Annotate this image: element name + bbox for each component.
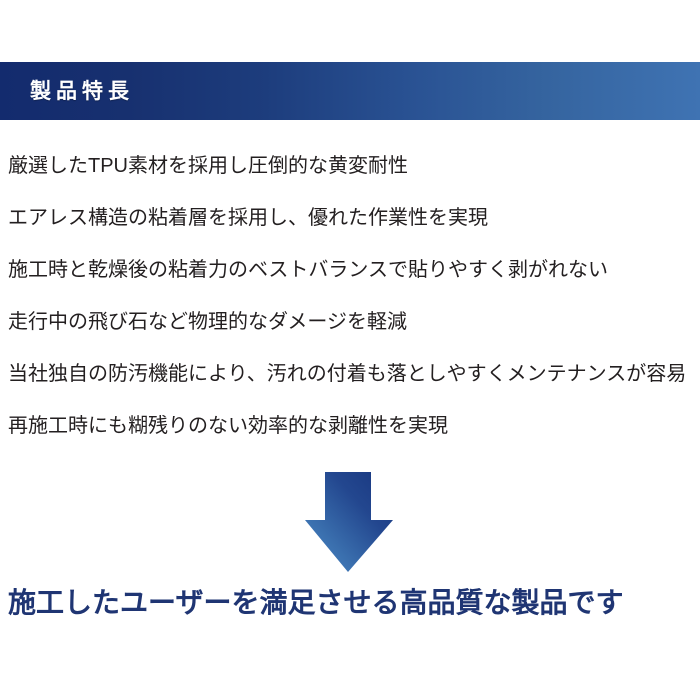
list-item: エアレス構造の粘着層を採用し、優れた作業性を実現 [0, 192, 700, 244]
conclusion-text: 施工したユーザーを満足させる高品質な製品です [0, 578, 700, 628]
feature-list: 厳選したTPU素材を採用し圧倒的な黄変耐性 エアレス構造の粘着層を採用し、優れた… [0, 140, 700, 452]
list-item: 走行中の飛び石など物理的なダメージを軽減 [0, 296, 700, 348]
page-title: 製品特長 [30, 81, 134, 102]
list-item: 再施工時にも糊残りのない効率的な剥離性を実現 [0, 400, 700, 452]
list-item: 厳選したTPU素材を採用し圧倒的な黄変耐性 [0, 140, 700, 192]
section-header-bar: 製品特長 [0, 62, 700, 120]
product-features-panel: 製品特長 厳選したTPU素材を採用し圧倒的な黄変耐性 エアレス構造の粘着層を採用… [0, 0, 700, 700]
list-item: 施工時と乾燥後の粘着力のベストバランスで貼りやすく剥がれない [0, 244, 700, 296]
list-item: 当社独自の防汚機能により、汚れの付着も落としやすくメンテナンスが容易 [0, 348, 700, 400]
arrow-down-icon [303, 470, 395, 576]
